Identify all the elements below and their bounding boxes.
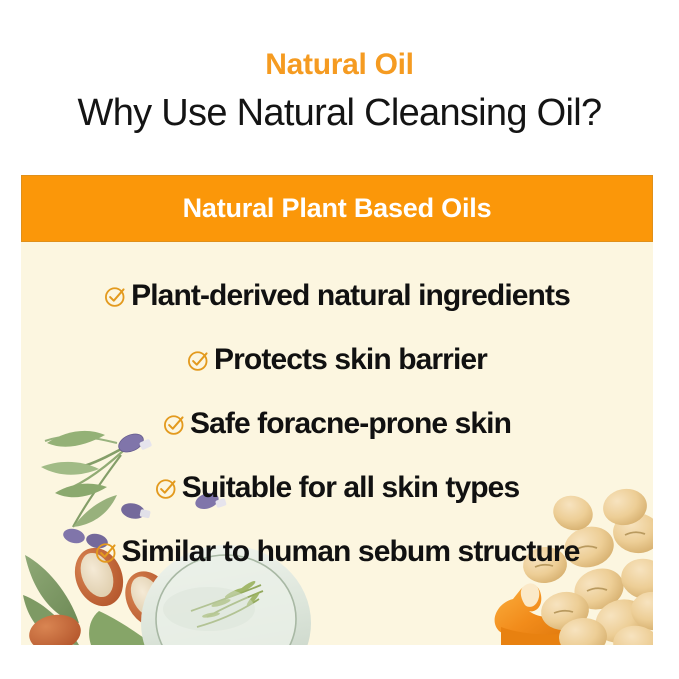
benefits-list: Plant-derived natural ingredients Protec… <box>21 242 653 645</box>
eyebrow-label: Natural Oil <box>265 50 413 80</box>
list-item-label: Similar to human sebum structure <box>122 537 580 567</box>
header: Natural Oil Why Use Natural Cleansing Oi… <box>0 0 679 175</box>
check-circle-icon <box>95 541 118 564</box>
check-circle-icon <box>163 413 186 436</box>
infographic-page: Natural Oil Why Use Natural Cleansing Oi… <box>0 0 679 679</box>
list-item-label: Plant-derived natural ingredients <box>131 281 570 311</box>
list-item-label: Protects skin barrier <box>214 345 487 375</box>
list-item: Plant-derived natural ingredients <box>104 264 570 328</box>
check-circle-icon <box>104 285 127 308</box>
card-banner: Natural Plant Based Oils <box>21 175 653 242</box>
list-item: Suitable for all skin types <box>155 456 519 520</box>
page-title: Why Use Natural Cleansing Oil? <box>78 94 602 132</box>
list-item: Safe foracne-prone skin <box>163 392 511 456</box>
benefits-card: Natural Plant Based Oils Plant-derived n… <box>21 175 653 645</box>
list-item: Similar to human sebum structure <box>95 520 580 584</box>
check-circle-icon <box>187 349 210 372</box>
check-circle-icon <box>155 477 178 500</box>
list-item: Protects skin barrier <box>187 328 487 392</box>
list-item-label: Safe foracne-prone skin <box>190 409 511 439</box>
card-banner-label: Natural Plant Based Oils <box>183 193 492 224</box>
list-item-label: Suitable for all skin types <box>182 473 519 503</box>
